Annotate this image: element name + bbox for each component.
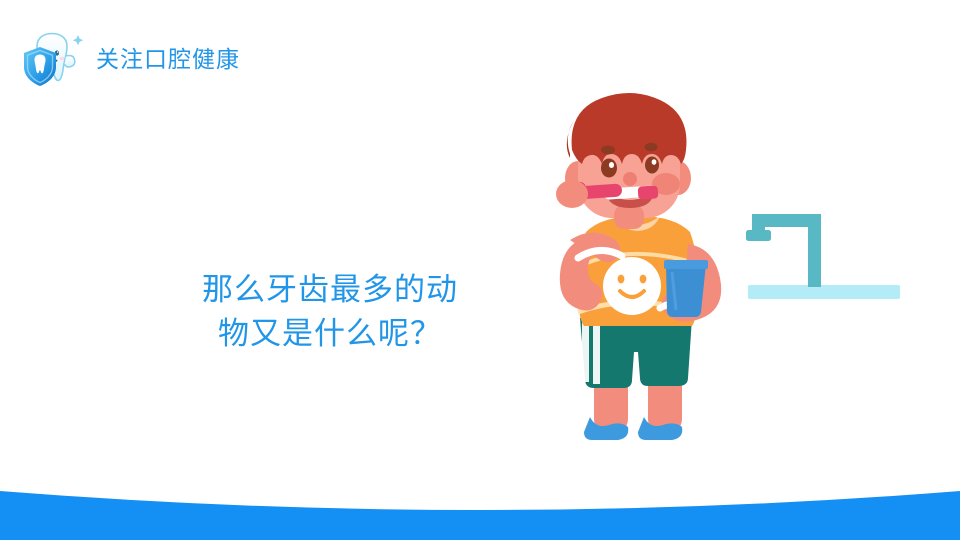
bottom-blue-wave bbox=[0, 460, 960, 540]
illustration-boy-brushing-teeth bbox=[520, 80, 900, 460]
head bbox=[565, 93, 691, 229]
headline-line-1: 那么牙齿最多的动 bbox=[140, 268, 520, 312]
bottom-wave-svg bbox=[0, 460, 960, 540]
tooth-mascot-shield-logo-svg bbox=[16, 28, 88, 90]
brand-title: 关注口腔健康 bbox=[96, 48, 240, 71]
counter-shelf-icon bbox=[748, 285, 900, 299]
slide-canvas: 关注口腔健康 那么牙齿最多的动 物又是什么呢？ bbox=[0, 0, 960, 540]
headline-line-2: 物又是什么呢？ bbox=[140, 312, 520, 356]
page-headline: 那么牙齿最多的动 物又是什么呢？ bbox=[140, 268, 520, 356]
left-hand bbox=[556, 180, 588, 208]
faucet-icon bbox=[746, 214, 821, 287]
brand-header: 关注口腔健康 bbox=[16, 28, 240, 90]
tooth-mascot-shield-logo-icon bbox=[16, 28, 88, 90]
shirt-smiley-emblem-icon bbox=[603, 257, 661, 315]
shorts bbox=[580, 318, 692, 388]
illustration-svg bbox=[520, 80, 900, 460]
